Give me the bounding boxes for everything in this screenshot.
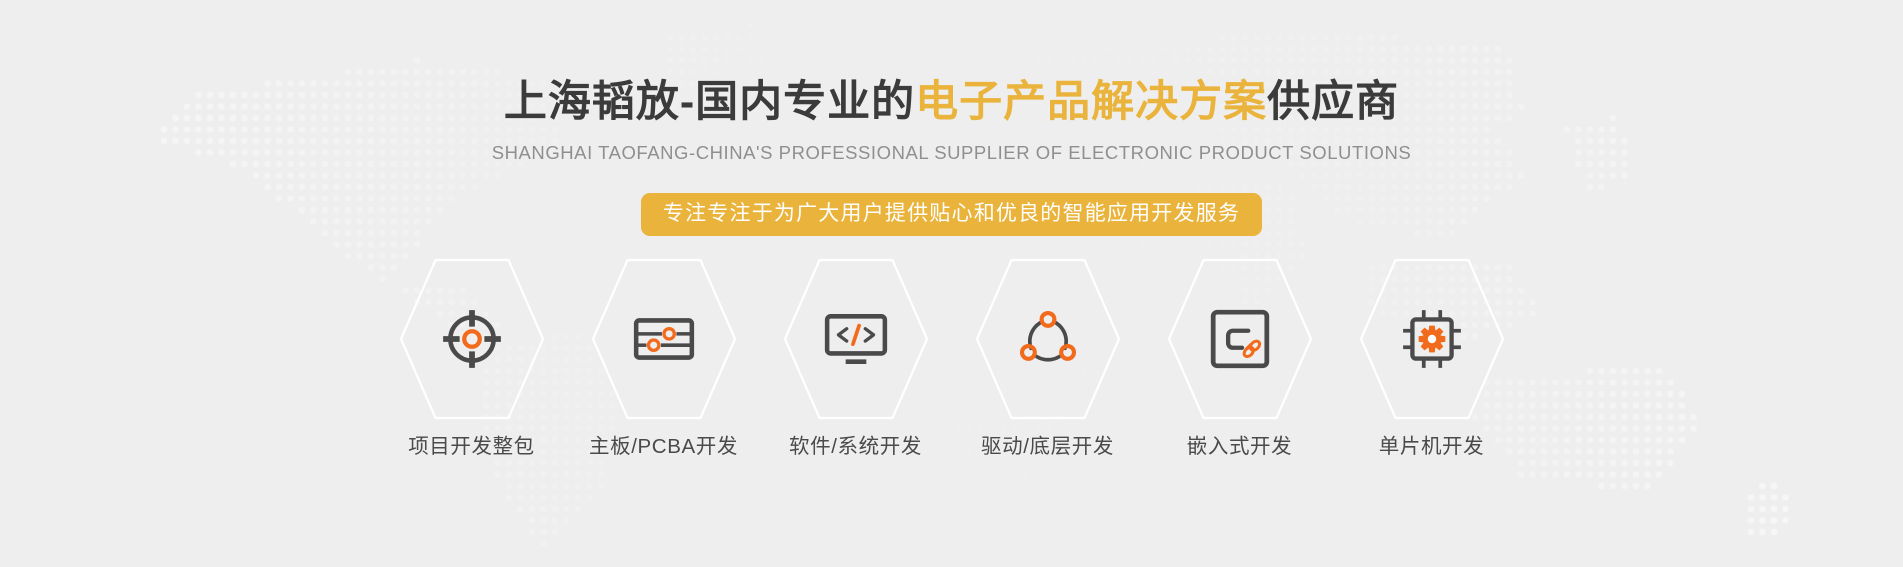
chip-link-icon (1207, 306, 1273, 372)
service-item-6[interactable]: 单片机开发 (1336, 258, 1528, 460)
tagline-badge-row: 专注专注于为广大用户提供贴心和优良的智能应用开发服务 (0, 193, 1903, 236)
service-label: 嵌入式开发 (1187, 434, 1293, 460)
crosshair-target-icon (439, 306, 505, 372)
service-list: 项目开发整包 主板/PCBA开发 软件/系统开发 驱动/底层开发 嵌入式开发 (0, 258, 1903, 460)
service-item-5[interactable]: 嵌入式开发 (1144, 258, 1336, 460)
hexagon-frame (1167, 258, 1313, 420)
banner-content: 上海韬放-国内专业的电子产品解决方案供应商 SHANGHAI TAOFANG-C… (0, 0, 1903, 567)
hexagon-frame (399, 258, 545, 420)
monitor-code-icon (823, 306, 889, 372)
tagline-badge: 专注专注于为广大用户提供贴心和优良的智能应用开发服务 (641, 193, 1262, 236)
hexagon-frame (1359, 258, 1505, 420)
hexagon-frame (591, 258, 737, 420)
service-label: 软件/系统开发 (789, 434, 922, 460)
page-title-part1: 上海韬放-国内专业的 (504, 78, 915, 126)
service-item-2[interactable]: 主板/PCBA开发 (568, 258, 760, 460)
page-title-part2: 供应商 (1267, 78, 1399, 126)
service-label: 驱动/底层开发 (981, 434, 1114, 460)
page-title: 上海韬放-国内专业的电子产品解决方案供应商 (0, 76, 1903, 128)
service-icon-wrapper (439, 306, 505, 372)
service-label: 单片机开发 (1379, 434, 1485, 460)
service-icon-wrapper (823, 306, 889, 372)
service-icon-wrapper (631, 306, 697, 372)
service-icon-wrapper (1399, 306, 1465, 372)
cpu-gear-icon (1399, 306, 1465, 372)
page-title-highlight: 电子产品解决方案 (915, 78, 1267, 126)
service-icon-wrapper (1207, 306, 1273, 372)
pcb-board-icon (631, 306, 697, 372)
service-label: 项目开发整包 (408, 434, 535, 460)
page-subtitle-english: SHANGHAI TAOFANG-CHINA'S PROFESSIONAL SU… (0, 142, 1903, 164)
hexagon-frame (975, 258, 1121, 420)
service-item-4[interactable]: 驱动/底层开发 (952, 258, 1144, 460)
service-item-3[interactable]: 软件/系统开发 (760, 258, 952, 460)
service-item-1[interactable]: 项目开发整包 (376, 258, 568, 460)
hero-banner: 上海韬放-国内专业的电子产品解决方案供应商 SHANGHAI TAOFANG-C… (0, 0, 1903, 567)
service-icon-wrapper (1015, 306, 1081, 372)
service-label: 主板/PCBA开发 (589, 434, 738, 460)
node-network-icon (1015, 306, 1081, 372)
hexagon-frame (783, 258, 929, 420)
